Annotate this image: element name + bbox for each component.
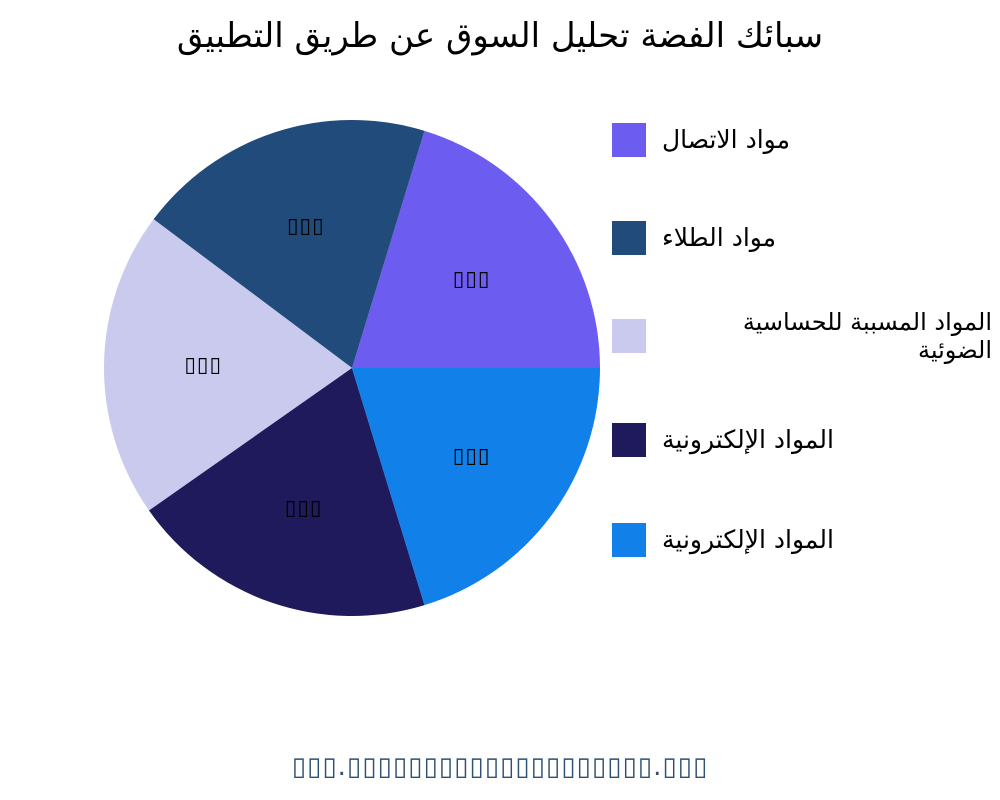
pie-chart-area: ▯▯▯▯▯▯▯▯▯▯▯▯▯▯▯: [102, 118, 602, 618]
legend-item-label: المواد الإلكترونية: [662, 425, 834, 455]
pie-slice-group: [104, 120, 600, 616]
legend-item-1[interactable]: مواد الطلاء: [612, 216, 776, 260]
legend-swatch-icon: [612, 423, 646, 457]
legend-swatch-icon: [612, 523, 646, 557]
legend-item-4[interactable]: المواد الإلكترونية: [612, 518, 834, 562]
legend-item-label: المواد المسببة للحساسية الضوئية: [662, 308, 992, 364]
pie-svg: ▯▯▯▯▯▯▯▯▯▯▯▯▯▯▯: [102, 118, 602, 618]
pie-slice-label: ▯▯▯: [453, 266, 491, 290]
legend-item-label: مواد الاتصال: [662, 125, 790, 155]
legend-item-0[interactable]: مواد الاتصال: [612, 118, 790, 162]
watermark-text: ▯▯▯.▯▯▯▯▯▯▯▯▯▯▯▯▯▯▯▯▯▯▯▯.▯▯▯: [0, 752, 1000, 782]
legend-swatch-icon: [612, 221, 646, 255]
page-title: سبائك الفضة تحليل السوق عن طريق التطبيق: [0, 14, 1000, 58]
legend-item-label: مواد الطلاء: [662, 223, 776, 253]
legend-item-3[interactable]: المواد الإلكترونية: [612, 418, 834, 462]
pie-slice-label: ▯▯▯: [453, 444, 491, 468]
legend-item-label: المواد الإلكترونية: [662, 525, 834, 555]
legend: مواد الاتصالمواد الطلاءالمواد المسببة لل…: [612, 118, 1000, 588]
pie-slice-label: ▯▯▯: [285, 496, 323, 520]
legend-swatch-icon: [612, 123, 646, 157]
legend-swatch-icon: [612, 319, 646, 353]
pie-chart-figure: سبائك الفضة تحليل السوق عن طريق التطبيق …: [0, 0, 1000, 800]
pie-slice-label: ▯▯▯: [287, 214, 325, 238]
legend-item-2[interactable]: المواد المسببة للحساسية الضوئية: [612, 314, 992, 358]
pie-slice-label: ▯▯▯: [184, 353, 222, 377]
